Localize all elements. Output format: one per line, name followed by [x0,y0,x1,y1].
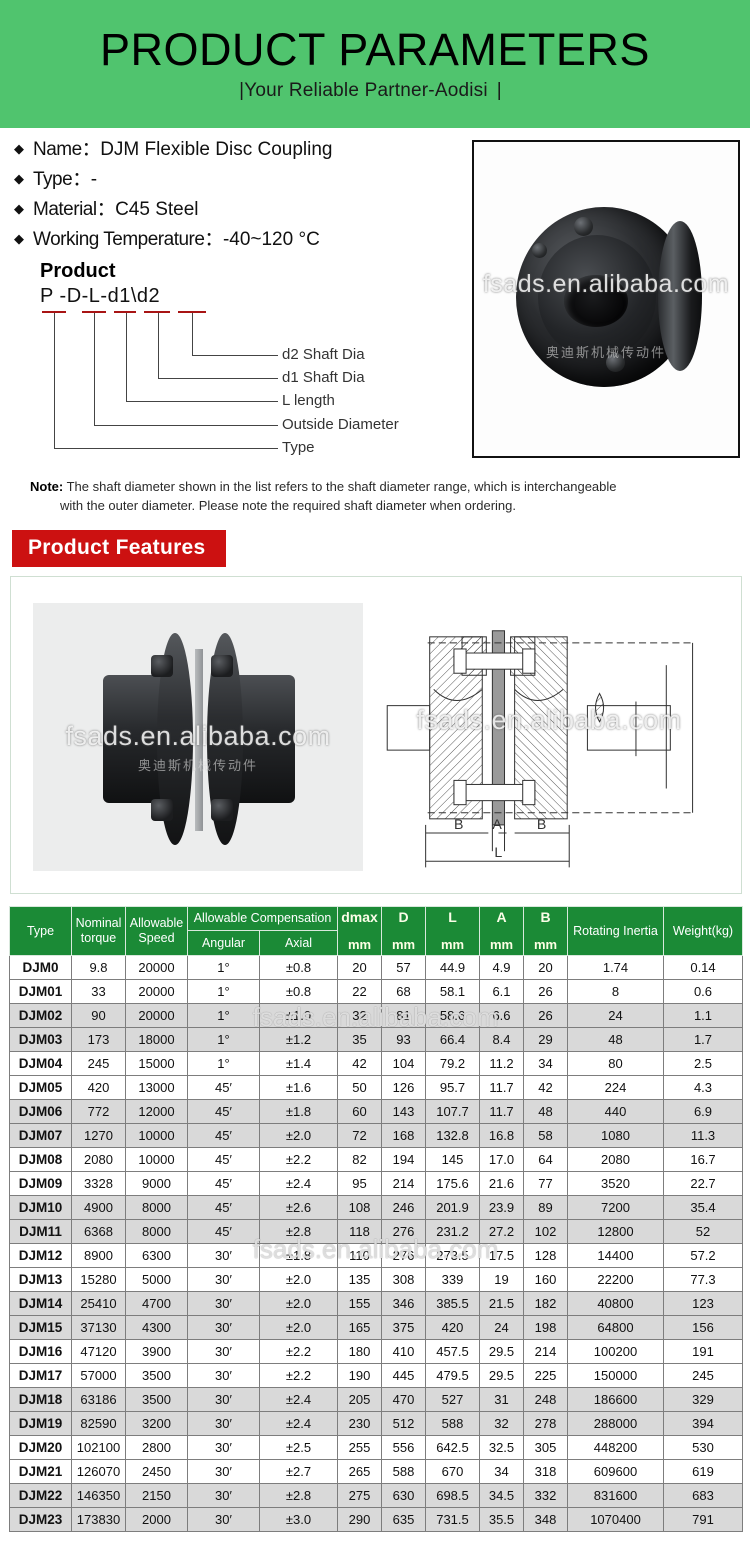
product-photo-main: fsads.en.alibaba.com 奥迪斯机械传动件 [472,140,740,458]
col-l-unit: mm [427,938,478,953]
col-b-unit: mm [525,938,566,953]
cell-D: 168 [382,1123,426,1147]
cell-dmax: 82 [338,1147,382,1171]
cell-inertia: 3520 [568,1171,664,1195]
spec-item-working-temperature: ◆ Working Temperature： -40~120 °C [14,230,462,249]
cell-D: 410 [382,1339,426,1363]
specification-section: ◆ Name： DJM Flexible Disc Coupling ◆ Typ… [0,128,750,468]
cell-dmax: 20 [338,955,382,979]
coupling-nut [211,799,233,821]
cell-B: 305 [524,1435,568,1459]
cell-type: DJM12 [10,1243,72,1267]
col-b-label: B [540,909,550,925]
product-features-heading: Product Features [12,530,226,567]
cell-inertia: 48 [568,1027,664,1051]
cell-L: 731.5 [426,1507,480,1531]
table-row: DJM1425410470030′±2.0155346385.521.51824… [10,1291,743,1315]
spec-item-material: ◆ Material： C45 Steel [14,200,462,219]
cell-axial: ±2.7 [260,1459,338,1483]
cell-angular: 30′ [188,1435,260,1459]
leader-line-d1-v [158,313,159,378]
cell-speed: 15000 [126,1051,188,1075]
cell-speed: 3500 [126,1363,188,1387]
cell-type: DJM20 [10,1435,72,1459]
callout-label-d2: d2 Shaft Dia [282,346,365,363]
technical-drawing: B A B L fsads.en.alibaba.com [367,593,731,893]
note-prefix: Note: [30,479,63,494]
cell-angular: 30′ [188,1291,260,1315]
cross-section-drawing-svg: B A B L [367,593,731,893]
cell-L: 79.2 [426,1051,480,1075]
cell-weight: 11.3 [664,1123,743,1147]
cell-B: 58 [524,1123,568,1147]
col-allowable-compensation: Allowable Compensation [188,906,338,931]
cell-dmax: 72 [338,1123,382,1147]
cell-torque: 33 [72,979,126,1003]
cell-dmax: 108 [338,1195,382,1219]
col-angular: Angular [188,931,260,956]
bullet-diamond-icon: ◆ [14,200,24,219]
cell-L: 44.9 [426,955,480,979]
product-code-callout-diagram: P -D-L-d1\d2 d2 Shaft Dia d1 Shaft Dia L… [40,285,462,460]
cell-type: DJM13 [10,1267,72,1291]
cell-axial: ±2.6 [260,1195,338,1219]
parameters-table: Type Nominal torque Allowable Speed Allo… [9,906,743,1532]
cell-inertia: 1080 [568,1123,664,1147]
cell-axial: ±2.0 [260,1291,338,1315]
col-type: Type [10,906,72,955]
cell-D: 93 [382,1027,426,1051]
table-row: DJM0290200001°±1.0328158.66.626241.1 [10,1003,743,1027]
table-row: DJM1757000350030′±2.2190445479.529.52251… [10,1363,743,1387]
cell-axial: ±2.0 [260,1123,338,1147]
cell-angular: 45′ [188,1075,260,1099]
cell-speed: 2000 [126,1507,188,1531]
cell-type: DJM16 [10,1339,72,1363]
cell-torque: 82590 [72,1411,126,1435]
cell-axial: ±2.4 [260,1171,338,1195]
cell-B: 102 [524,1219,568,1243]
cell-speed: 8000 [126,1195,188,1219]
cell-axial: ±1.4 [260,1051,338,1075]
cell-dmax: 118 [338,1219,382,1243]
cell-dmax: 42 [338,1051,382,1075]
leader-line-type-v [54,313,55,448]
cell-speed: 2450 [126,1459,188,1483]
cell-B: 214 [524,1339,568,1363]
cell-torque: 3328 [72,1171,126,1195]
cell-A: 8.4 [480,1027,524,1051]
cell-axial: ±3.0 [260,1507,338,1531]
spec-value: -40~120 °C [223,230,320,249]
cell-L: 58.1 [426,979,480,1003]
cell-L: 175.6 [426,1171,480,1195]
cell-dmax: 155 [338,1291,382,1315]
cell-A: 17.5 [480,1243,524,1267]
cell-B: 128 [524,1243,568,1267]
leader-line-d2-v [192,313,193,355]
cell-A: 21.6 [480,1171,524,1195]
col-d-unit: mm [383,938,424,953]
cell-D: 246 [382,1195,426,1219]
table-row: DJM1647120390030′±2.2180410457.529.52141… [10,1339,743,1363]
table-row: DJM03173180001°±1.2359366.48.429481.7 [10,1027,743,1051]
coupling-bolt [574,217,593,236]
cell-torque: 420 [72,1075,126,1099]
cell-D: 68 [382,979,426,1003]
cell-torque: 90 [72,1003,126,1027]
cell-A: 32.5 [480,1435,524,1459]
cell-torque: 173830 [72,1507,126,1531]
cell-inertia: 1070400 [568,1507,664,1531]
cell-axial: ±1.0 [260,1003,338,1027]
cell-B: 29 [524,1027,568,1051]
cell-weight: 123 [664,1291,743,1315]
drawing-label-a: A [492,816,502,832]
cell-inertia: 440 [568,1099,664,1123]
cell-A: 31 [480,1387,524,1411]
cell-L: 95.7 [426,1075,480,1099]
cell-L: 107.7 [426,1099,480,1123]
col-axial: Axial [260,931,338,956]
col-d-label: D [398,909,408,925]
table-row: DJM116368800045′±2.8118276231.227.210212… [10,1219,743,1243]
cell-B: 42 [524,1075,568,1099]
cell-L: 420 [426,1315,480,1339]
cell-weight: 2.5 [664,1051,743,1075]
cell-weight: 16.7 [664,1147,743,1171]
cell-L: 339 [426,1267,480,1291]
cell-dmax: 50 [338,1075,382,1099]
cell-A: 11.7 [480,1075,524,1099]
cell-weight: 4.3 [664,1075,743,1099]
cell-torque: 15280 [72,1267,126,1291]
cell-type: DJM22 [10,1483,72,1507]
cell-axial: ±2.2 [260,1147,338,1171]
cell-D: 635 [382,1507,426,1531]
parameters-table-container: Type Nominal torque Allowable Speed Allo… [9,906,742,1532]
table-row: DJM0133200001°±0.8226858.16.12680.6 [10,979,743,1003]
cell-D: 588 [382,1459,426,1483]
cell-B: 318 [524,1459,568,1483]
cell-speed: 20000 [126,955,188,979]
cell-D: 445 [382,1363,426,1387]
cell-angular: 45′ [188,1147,260,1171]
cell-A: 21.5 [480,1291,524,1315]
cell-inertia: 186600 [568,1387,664,1411]
coupling-bolt [532,243,547,258]
cell-torque: 102100 [72,1435,126,1459]
table-body: DJM09.8200001°±0.8205744.94.9201.740.14D… [10,955,743,1531]
cell-type: DJM15 [10,1315,72,1339]
cell-axial: ±2.4 [260,1387,338,1411]
spec-value: - [91,170,97,189]
cell-torque: 9.8 [72,955,126,979]
cell-dmax: 230 [338,1411,382,1435]
cell-torque: 173 [72,1027,126,1051]
cell-inertia: 609600 [568,1459,664,1483]
cell-inertia: 40800 [568,1291,664,1315]
code-underline-d1 [144,311,170,313]
cell-angular: 1° [188,955,260,979]
cell-weight: 52 [664,1219,743,1243]
table-row: DJM22146350215030′±2.8275630698.534.5332… [10,1483,743,1507]
leader-line-d2-h [192,355,278,356]
cell-B: 225 [524,1363,568,1387]
table-row: DJM21126070245030′±2.7265588670343186096… [10,1459,743,1483]
cell-torque: 47120 [72,1339,126,1363]
col-d: D mm [382,906,426,955]
table-row: DJM067721200045′±1.860143107.711.7484406… [10,1099,743,1123]
cell-A: 29.5 [480,1339,524,1363]
cell-torque: 6368 [72,1219,126,1243]
table-row: DJM1982590320030′±2.42305125883227828800… [10,1411,743,1435]
cell-speed: 13000 [126,1075,188,1099]
col-dmax: dmax mm [338,906,382,955]
callout-label-type: Type [282,439,315,456]
bullet-diamond-icon: ◆ [14,170,24,189]
leader-line-od-h [94,425,278,426]
cell-type: DJM14 [10,1291,72,1315]
cell-B: 26 [524,1003,568,1027]
cell-L: 698.5 [426,1483,480,1507]
product-code-text: P -D-L-d1\d2 [40,285,160,308]
table-row: DJM0820801000045′±2.28219414517.06420801… [10,1147,743,1171]
table-row: DJM1315280500030′±2.01353083391916022200… [10,1267,743,1291]
cell-angular: 30′ [188,1459,260,1483]
cell-weight: 245 [664,1363,743,1387]
cell-dmax: 22 [338,979,382,1003]
cell-angular: 30′ [188,1363,260,1387]
cell-weight: 683 [664,1483,743,1507]
cell-torque: 8900 [72,1243,126,1267]
cell-weight: 1.1 [664,1003,743,1027]
note-line-2: with the outer diameter. Please note the… [60,497,728,516]
cell-dmax: 275 [338,1483,382,1507]
cell-inertia: 80 [568,1051,664,1075]
spec-label: Name： [33,140,100,159]
spec-item-name: ◆ Name： DJM Flexible Disc Coupling [14,140,462,159]
cell-L: 670 [426,1459,480,1483]
cell-type: DJM08 [10,1147,72,1171]
cell-L: 479.5 [426,1363,480,1387]
coupling-bore [564,275,628,327]
cell-B: 77 [524,1171,568,1195]
cell-torque: 25410 [72,1291,126,1315]
disc-coupling-illustration [508,201,704,397]
cell-L: 66.4 [426,1027,480,1051]
cell-type: DJM02 [10,1003,72,1027]
cell-axial: ±0.8 [260,979,338,1003]
banner-subtitle: |Your Reliable Partner-Aodisi| [239,80,511,102]
cell-speed: 4300 [126,1315,188,1339]
cell-D: 57 [382,955,426,979]
cell-B: 34 [524,1051,568,1075]
spec-label: Material： [33,200,115,219]
cell-speed: 4700 [126,1291,188,1315]
cell-torque: 1270 [72,1123,126,1147]
cell-type: DJM19 [10,1411,72,1435]
cell-B: 348 [524,1507,568,1531]
cell-dmax: 135 [338,1267,382,1291]
cell-dmax: 35 [338,1027,382,1051]
cell-L: 231.2 [426,1219,480,1243]
cell-weight: 530 [664,1435,743,1459]
col-a-label: A [496,909,506,925]
callout-label-outside-diameter: Outside Diameter [282,416,399,433]
product-photo-features: fsads.en.alibaba.com 奥迪斯机械传动件 [33,603,363,871]
cell-axial: ±2.2 [260,1339,338,1363]
leader-line-od-v [94,313,95,425]
page-title: PRODUCT PARAMETERS [100,26,650,73]
cell-D: 512 [382,1411,426,1435]
cell-inertia: 224 [568,1075,664,1099]
cell-D: 214 [382,1171,426,1195]
spec-value: DJM Flexible Disc Coupling [100,140,332,159]
cell-D: 126 [382,1075,426,1099]
cell-A: 29.5 [480,1363,524,1387]
leader-line-type-h [54,448,278,449]
col-dmax-unit: mm [339,938,380,953]
cell-speed: 9000 [126,1171,188,1195]
cell-torque: 63186 [72,1387,126,1411]
cell-angular: 45′ [188,1099,260,1123]
product-features-panel: fsads.en.alibaba.com 奥迪斯机械传动件 [10,576,742,894]
cell-inertia: 288000 [568,1411,664,1435]
cell-A: 23.9 [480,1195,524,1219]
cell-type: DJM03 [10,1027,72,1051]
cell-axial: ±2.8 [260,1483,338,1507]
coupling-assembly-illustration [99,633,299,845]
cell-weight: 791 [664,1507,743,1531]
cell-speed: 10000 [126,1123,188,1147]
cell-torque: 4900 [72,1195,126,1219]
photo-stage [474,142,738,456]
col-l-label: L [448,909,457,925]
coupling-nut [151,655,173,677]
cell-speed: 2150 [126,1483,188,1507]
cell-L: 588 [426,1411,480,1435]
cell-D: 346 [382,1291,426,1315]
cell-A: 32 [480,1411,524,1435]
cell-weight: 0.14 [664,955,743,979]
table-row: DJM23173830200030′±3.0290635731.535.5348… [10,1507,743,1531]
cell-A: 34.5 [480,1483,524,1507]
cell-axial: ±2.8 [260,1219,338,1243]
cell-D: 104 [382,1051,426,1075]
cell-weight: 156 [664,1315,743,1339]
table-row: DJM0712701000045′±2.072168132.816.858108… [10,1123,743,1147]
cell-torque: 2080 [72,1147,126,1171]
col-dmax-label: dmax [341,909,378,925]
cell-L: 273.5 [426,1243,480,1267]
product-code-heading: Product [40,260,462,283]
cell-speed: 5000 [126,1267,188,1291]
cell-angular: 1° [188,979,260,1003]
coupling-spacer-plate [195,649,203,831]
spec-value: C45 Steel [115,200,198,219]
cell-type: DJM0 [10,955,72,979]
cell-B: 248 [524,1387,568,1411]
cell-weight: 0.6 [664,979,743,1003]
spec-item-type: ◆ Type： - [14,170,462,189]
cell-speed: 2800 [126,1435,188,1459]
page-banner: PRODUCT PARAMETERS |Your Reliable Partne… [0,0,750,128]
cell-angular: 30′ [188,1411,260,1435]
cell-L: 145 [426,1147,480,1171]
table-row: DJM04245150001°±1.44210479.211.234802.5 [10,1051,743,1075]
cell-type: DJM18 [10,1387,72,1411]
table-row: DJM20102100280030′±2.5255556642.532.5305… [10,1435,743,1459]
cell-A: 16.8 [480,1123,524,1147]
cell-inertia: 12800 [568,1219,664,1243]
cell-inertia: 64800 [568,1315,664,1339]
cell-inertia: 14400 [568,1243,664,1267]
cell-inertia: 150000 [568,1363,664,1387]
cell-L: 527 [426,1387,480,1411]
cell-weight: 22.7 [664,1171,743,1195]
cell-speed: 20000 [126,1003,188,1027]
bullet-diamond-icon: ◆ [14,140,24,159]
cell-angular: 45′ [188,1123,260,1147]
cell-L: 132.8 [426,1123,480,1147]
cell-type: DJM09 [10,1171,72,1195]
cell-dmax: 60 [338,1099,382,1123]
cell-axial: ±1.8 [260,1099,338,1123]
callout-label-d1: d1 Shaft Dia [282,369,365,386]
cell-type: DJM11 [10,1219,72,1243]
bar-right: | [497,80,502,101]
cell-A: 11.2 [480,1051,524,1075]
cell-torque: 57000 [72,1363,126,1387]
table-header-row-1: Type Nominal torque Allowable Speed Allo… [10,906,743,931]
cell-angular: 1° [188,1003,260,1027]
cell-B: 26 [524,979,568,1003]
cell-axial: ±2.5 [260,1435,338,1459]
cell-B: 182 [524,1291,568,1315]
cell-A: 6.1 [480,979,524,1003]
cell-inertia: 8 [568,979,664,1003]
cell-weight: 77.3 [664,1267,743,1291]
cell-D: 276 [382,1219,426,1243]
col-allowable-speed: Allowable Speed [126,906,188,955]
cell-inertia: 24 [568,1003,664,1027]
table-row: DJM1863186350030′±2.42054705273124818660… [10,1387,743,1411]
col-a: A mm [480,906,524,955]
col-nominal-torque: Nominal torque [72,906,126,955]
cell-D: 194 [382,1147,426,1171]
cell-A: 27.2 [480,1219,524,1243]
cell-D: 470 [382,1387,426,1411]
table-row: DJM128900630030′±1.8110276273.517.512814… [10,1243,743,1267]
cell-inertia: 448200 [568,1435,664,1459]
cell-D: 556 [382,1435,426,1459]
cell-type: DJM07 [10,1123,72,1147]
cell-type: DJM06 [10,1099,72,1123]
cell-A: 34 [480,1459,524,1483]
cell-A: 6.6 [480,1003,524,1027]
cell-angular: 30′ [188,1387,260,1411]
cell-type: DJM05 [10,1075,72,1099]
table-row: DJM104900800045′±2.6108246201.923.989720… [10,1195,743,1219]
cell-angular: 1° [188,1051,260,1075]
cell-B: 89 [524,1195,568,1219]
bullet-diamond-icon: ◆ [14,230,24,249]
cell-weight: 394 [664,1411,743,1435]
note-block: Note: The shaft diameter shown in the li… [30,478,728,516]
cell-dmax: 255 [338,1435,382,1459]
cell-type: DJM21 [10,1459,72,1483]
